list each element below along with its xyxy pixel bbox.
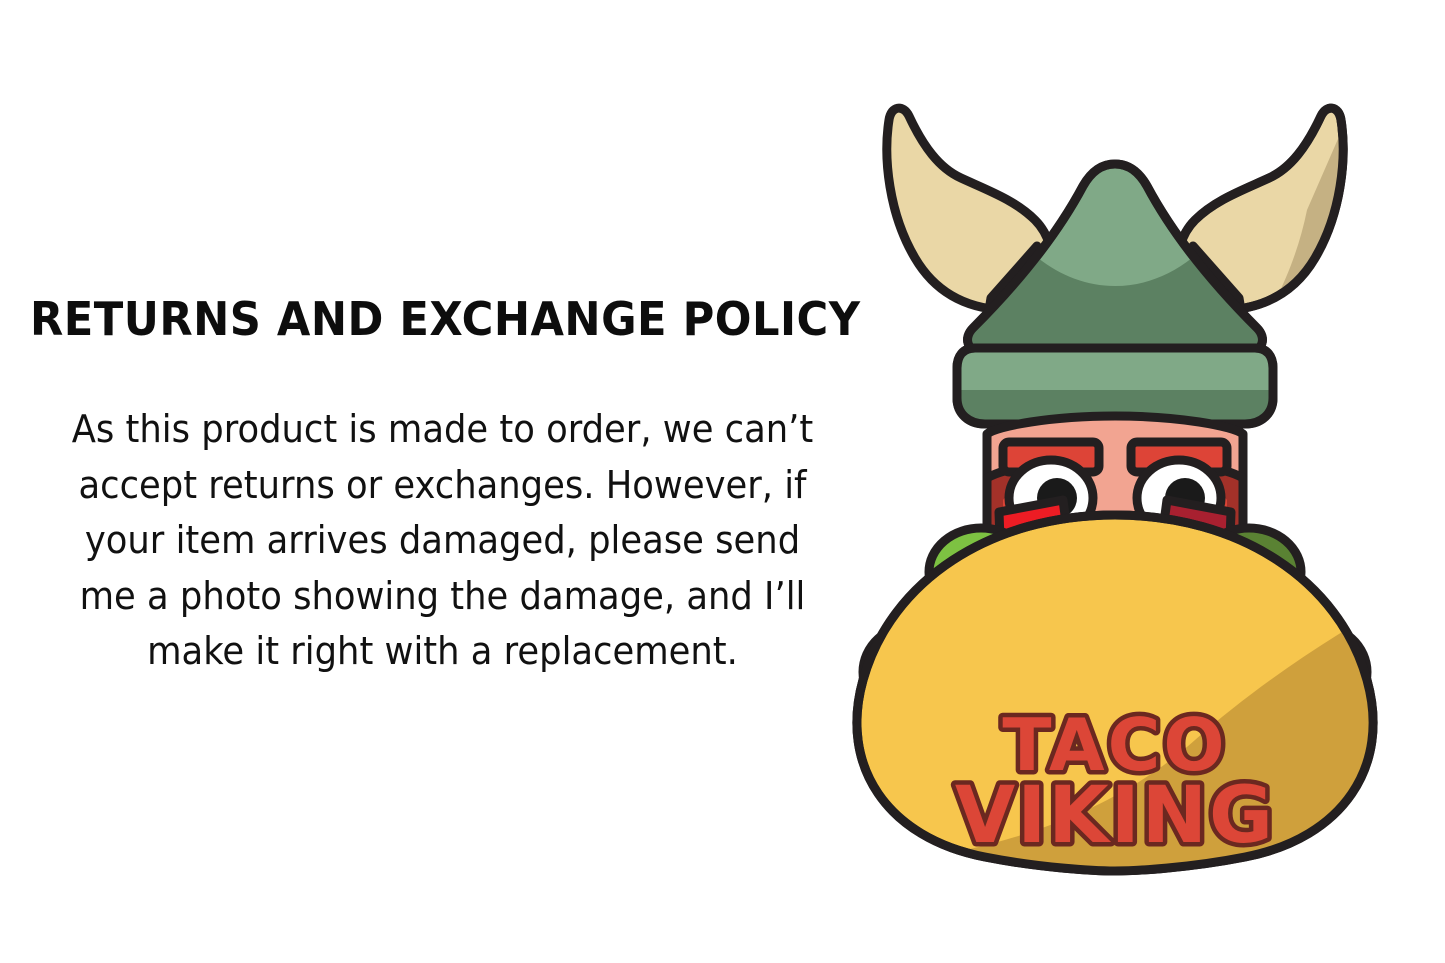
page-title: RETURNS AND EXCHANGE POLICY (30, 293, 810, 345)
brand-line-2: VIKING (955, 771, 1275, 861)
policy-card: RETURNS AND EXCHANGE POLICY As this prod… (0, 0, 1445, 963)
policy-body-text: As this product is made to order, we can… (68, 402, 817, 680)
taco-viking-wordmark: TACO VIKING (955, 703, 1275, 861)
taco-viking-illustration: TACO VIKING (795, 60, 1435, 890)
taco-viking-icon: TACO VIKING (795, 60, 1435, 890)
policy-text-panel: RETURNS AND EXCHANGE POLICY As this prod… (0, 0, 880, 963)
